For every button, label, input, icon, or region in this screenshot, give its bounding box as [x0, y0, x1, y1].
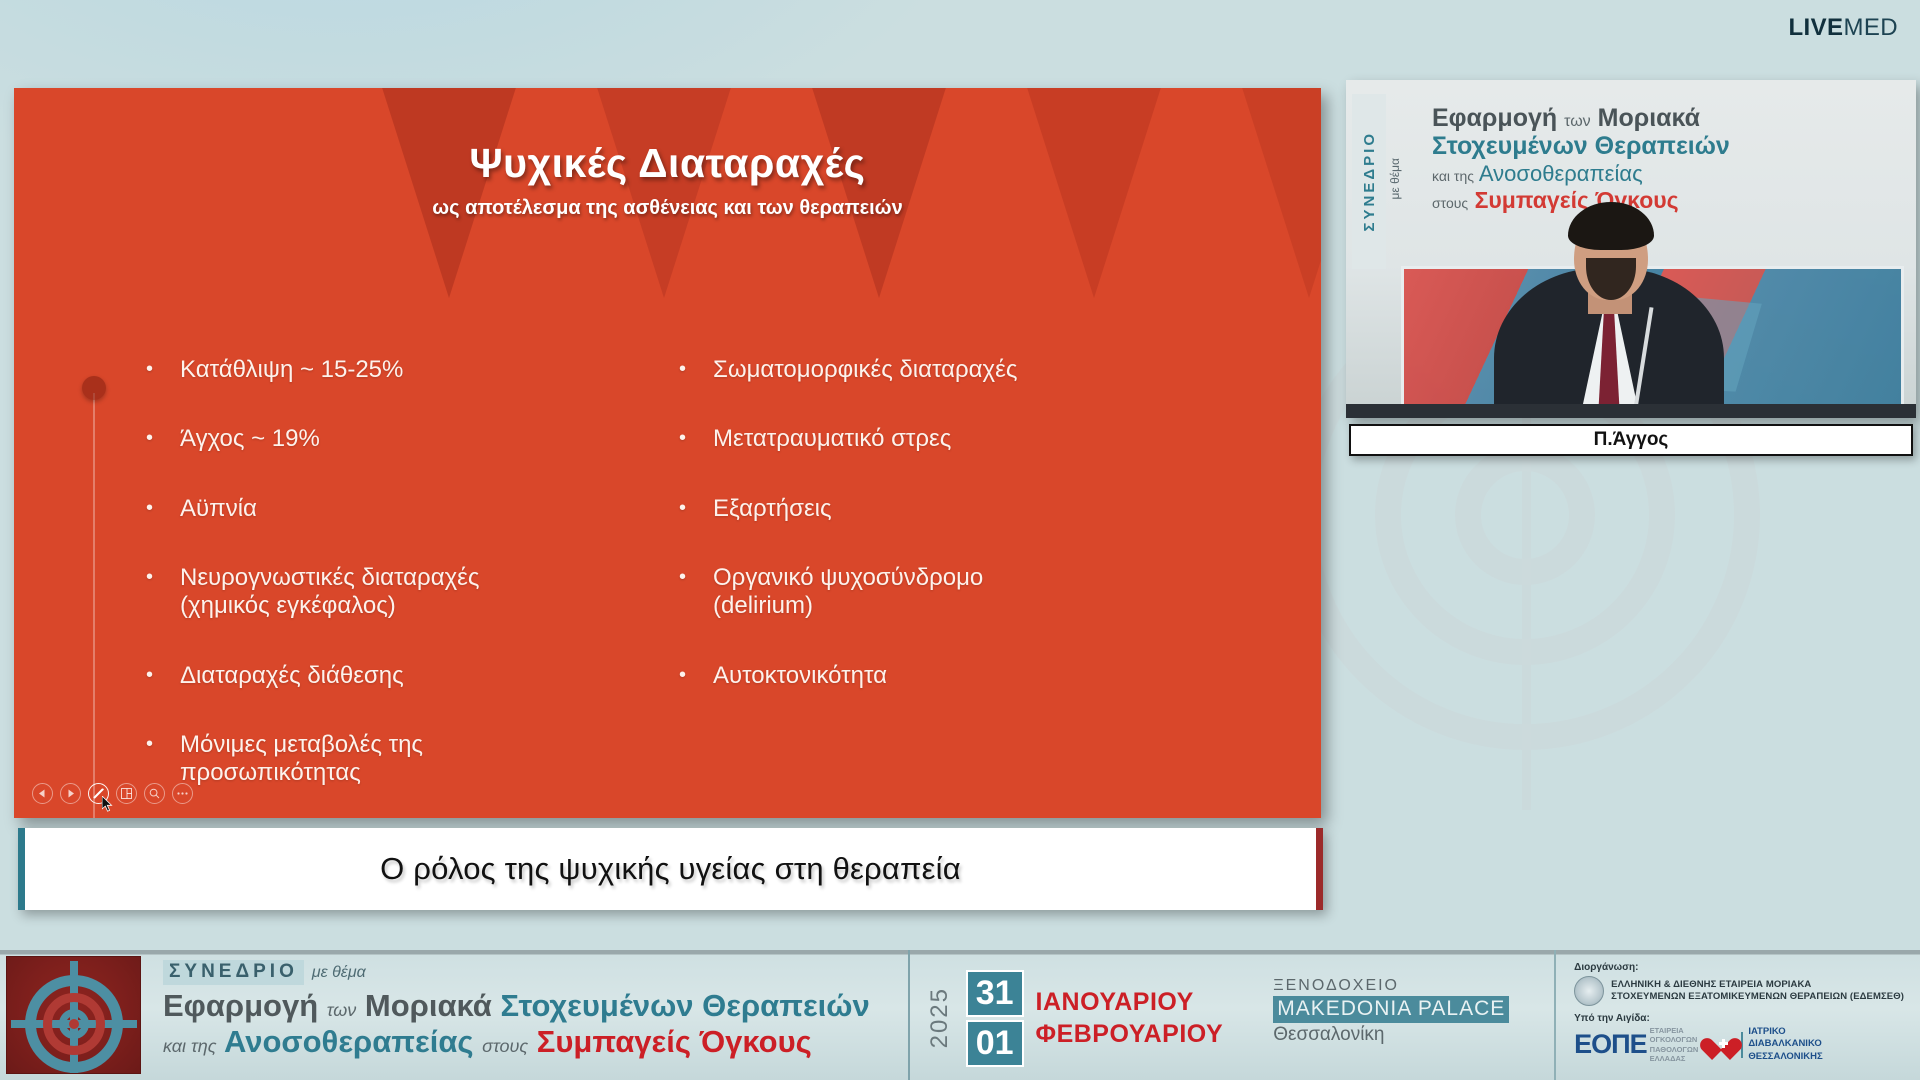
bullet-text: Οργανικό ψυχοσύνδρομο (delirium)	[713, 564, 983, 621]
bullet-text: Μετατραυματικό στρες	[713, 425, 951, 453]
banner-title-line1: Εφαρμογή των Μοριακά Στοχευμένων Θεραπει…	[163, 989, 870, 1024]
accent-line	[93, 393, 95, 818]
caption-text: Ο ρόλος της ψυχικής υγείας στη θεραπεία	[380, 851, 961, 887]
speaker-figure	[1494, 153, 1724, 418]
bullet-item: •Διαταραχές διάθεσης	[146, 662, 616, 690]
livemed-logo-med: MED	[1843, 14, 1898, 41]
bullet-marker-icon: •	[146, 662, 180, 688]
mouse-cursor	[102, 796, 113, 812]
layout-view-button[interactable]	[116, 783, 137, 804]
interbalkan-name: ΙΑΤΡΙΚΟ ΔΙΑΒΑΛΚΑΝΙΚΟ ΘΕΣΣΑΛΟΝΙΚΗΣ	[1748, 1026, 1822, 1063]
bullet-item: •Οργανικό ψυχοσύνδρομο (delirium)	[679, 564, 1199, 621]
banner-t2c: στους	[482, 1036, 528, 1056]
banner-day2: 01	[966, 1020, 1024, 1067]
speaker-name: Π.Άγγος	[1594, 429, 1669, 451]
caption-bar: Ο ρόλος της ψυχικής υγείας στη θεραπεία	[18, 828, 1323, 910]
slide-subtitle: ως αποτέλεσμα της ασθένειας και των θερα…	[14, 197, 1321, 220]
banner-venue-city: Θεσσαλονίκη	[1273, 1023, 1509, 1047]
bullet-text: Μόνιμες μεταβολές της προσωπικότητας	[180, 731, 423, 788]
bullet-text: Άγχος ~ 19%	[180, 425, 320, 453]
next-slide-button[interactable]	[60, 783, 81, 804]
bullet-list-left: •Κατάθλιψη ~ 15-25%•Άγχος ~ 19%•Αϋπνία•Ν…	[146, 356, 616, 818]
banner-day1: 31	[966, 970, 1024, 1017]
banner-with-theme: με θέμα	[312, 964, 366, 982]
banner-t2b: Ανοσοθεραπείας	[224, 1024, 474, 1059]
bullet-marker-icon: •	[146, 731, 180, 757]
slide-header: Ψυχικές Διαταραχές ως αποτέλεσμα της ασθ…	[14, 88, 1321, 220]
bullet-marker-icon: •	[679, 662, 713, 688]
bullet-item: •Άγχος ~ 19%	[146, 425, 616, 453]
livemed-logo-live: LIVE	[1789, 14, 1844, 41]
banner-title-block: ΣΥΝΕΔΡΙΟ με θέμα Εφαρμογή των Μοριακά Στ…	[141, 950, 870, 1080]
accent-dot	[82, 376, 106, 400]
backdrop-l1a: Εφαρμογή	[1432, 104, 1557, 132]
bullet-text: Κατάθλιψη ~ 15-25%	[180, 356, 403, 384]
banner-organizers: Διοργάνωση: ΕΛΛΗΝΙΚΗ & ΔΙΕΘΝΗΣ ΕΤΑΙΡΕΙΑ …	[1554, 950, 1920, 1080]
bullet-item: •Μετατραυματικό στρες	[679, 425, 1199, 453]
banner-event-label: ΣΥΝΕΔΡΙΟ	[163, 960, 304, 985]
banner-t1a: Εφαρμογή	[163, 988, 318, 1023]
livemed-logo: LIVEMED	[1789, 16, 1899, 40]
banner-t1d: Στοχευμένων Θεραπειών	[500, 988, 869, 1023]
bullet-text: Νευρογνωστικές διαταραχές (χημικός εγκέφ…	[180, 564, 479, 621]
banner-venue-block: ΞΕΝΟΔΟΧΕΙΟ MAKEDONIA PALACE Θεσσαλονίκη	[1273, 950, 1509, 1080]
bullet-marker-icon: •	[679, 564, 713, 590]
bullet-item: •Εξαρτήσεις	[679, 495, 1199, 523]
speaker-video[interactable]: ΣΥΝΕΔΡΙΟ με θέμα Εφαρμογή των Μοριακά Στ…	[1346, 80, 1916, 418]
bullet-list-right: •Σωματομορφικές διαταραχές•Μετατραυματικ…	[679, 356, 1199, 731]
banner-venue-name: MAKEDONIA PALACE	[1273, 996, 1509, 1023]
backdrop-l3a: και της	[1432, 168, 1474, 184]
zoom-search-button[interactable]	[144, 783, 165, 804]
heart-icon	[1710, 1033, 1736, 1057]
banner-venue-label: ΞΕΝΟΔΟΧΕΙΟ	[1273, 976, 1509, 996]
banner-t1c: Μοριακά	[365, 988, 492, 1023]
bullet-marker-icon: •	[146, 356, 180, 382]
presentation-slide[interactable]: Ψυχικές Διαταραχές ως αποτέλεσμα της ασθ…	[14, 88, 1321, 818]
backdrop-side-sub: με θέμα	[1388, 158, 1402, 199]
event-banner: ΣΥΝΕΔΡΙΟ με θέμα Εφαρμογή των Μοριακά Στ…	[0, 950, 1920, 1080]
bullet-item: •Κατάθλιψη ~ 15-25%	[146, 356, 616, 384]
bullet-item: •Νευρογνωστικές διαταραχές (χημικός εγκέ…	[146, 564, 616, 621]
eope-sub: ΕΤΑΙΡΕΙΑ ΟΓΚΟΛΟΓΩΝ ΠΑΘΟΛΟΓΩΝ ΕΛΛΑΔΑΣ	[1650, 1026, 1699, 1063]
medical-cross-icon	[1719, 1039, 1728, 1048]
banner-t2d: Συμπαγείς Όγκους	[537, 1024, 812, 1059]
aegis-label: Υπό την Αιγίδα:	[1574, 1013, 1904, 1024]
bullet-item: •Σωματομορφικές διαταραχές	[679, 356, 1199, 384]
eope-logo: ΕΟΠΕ ΕΤΑΙΡΕΙΑ ΟΓΚΟΛΟΓΩΝ ΠΑΘΟΛΟΓΩΝ ΕΛΛΑΔΑ…	[1574, 1026, 1698, 1063]
banner-year: 2025	[926, 987, 954, 1048]
previous-slide-button[interactable]	[32, 783, 53, 804]
backdrop-side-label: ΣΥΝΕΔΡΙΟ	[1352, 94, 1386, 269]
interbalkan-logo: ΙΑΤΡΙΚΟ ΔΙΑΒΑΛΚΑΝΙΚΟ ΘΕΣΣΑΛΟΝΙΚΗΣ	[1710, 1026, 1822, 1063]
eope-mark: ΕΟΠΕ	[1574, 1031, 1647, 1058]
bullet-marker-icon: •	[679, 356, 713, 382]
banner-t2a: και της	[163, 1036, 217, 1056]
bullet-marker-icon: •	[679, 425, 713, 451]
banner-date-block: 2025 31 01 ΙΑΝΟΥΑΡΙΟΥ ΦΕΒΡΟΥΑΡΙΟΥ	[908, 950, 1224, 1080]
banner-title-line2: και της Ανοσοθεραπείας στους Συμπαγείς Ό…	[163, 1025, 870, 1060]
backdrop-l4a: στους	[1432, 195, 1468, 211]
organizer-name: ΕΛΛΗΝΙΚΗ & ΔΙΕΘΝΗΣ ΕΤΑΙΡΕΙΑ ΜΟΡΙΑΚΑ ΣΤΟΧ…	[1611, 979, 1904, 1003]
bullet-text: Σωματομορφικές διαταραχές	[713, 356, 1017, 384]
podium-desk	[1346, 404, 1916, 418]
organizer-label: Διοργάνωση:	[1574, 962, 1904, 973]
bullet-text: Εξαρτήσεις	[713, 495, 832, 523]
bullet-item: •Μόνιμες μεταβολές της προσωπικότητας	[146, 731, 616, 788]
bullet-marker-icon: •	[146, 425, 180, 451]
bullet-text: Αυτοκτονικότητα	[713, 662, 887, 690]
backdrop-l1b: των	[1564, 113, 1591, 130]
organizer-seal-icon	[1574, 976, 1604, 1006]
slide-title: Ψυχικές Διαταραχές	[14, 140, 1321, 187]
banner-month2: ΦΕΒΡΟΥΑΡΙΟΥ	[1036, 1022, 1224, 1047]
bullet-text: Διαταραχές διάθεσης	[180, 662, 404, 690]
banner-month1: ΙΑΝΟΥΑΡΙΟΥ	[1036, 990, 1224, 1015]
bullet-marker-icon: •	[679, 495, 713, 521]
more-options-button[interactable]	[172, 783, 193, 804]
bullet-marker-icon: •	[146, 495, 180, 521]
bullet-text: Αϋπνία	[180, 495, 257, 523]
bullet-marker-icon: •	[146, 564, 180, 590]
event-logo	[6, 956, 141, 1074]
banner-t1b: των	[327, 1000, 357, 1020]
bullet-item: •Αϋπνία	[146, 495, 616, 523]
speaker-nameplate: Π.Άγγος	[1349, 424, 1913, 456]
backdrop-l1c: Μοριακά	[1598, 104, 1700, 132]
bullet-item: •Αυτοκτονικότητα	[679, 662, 1199, 690]
